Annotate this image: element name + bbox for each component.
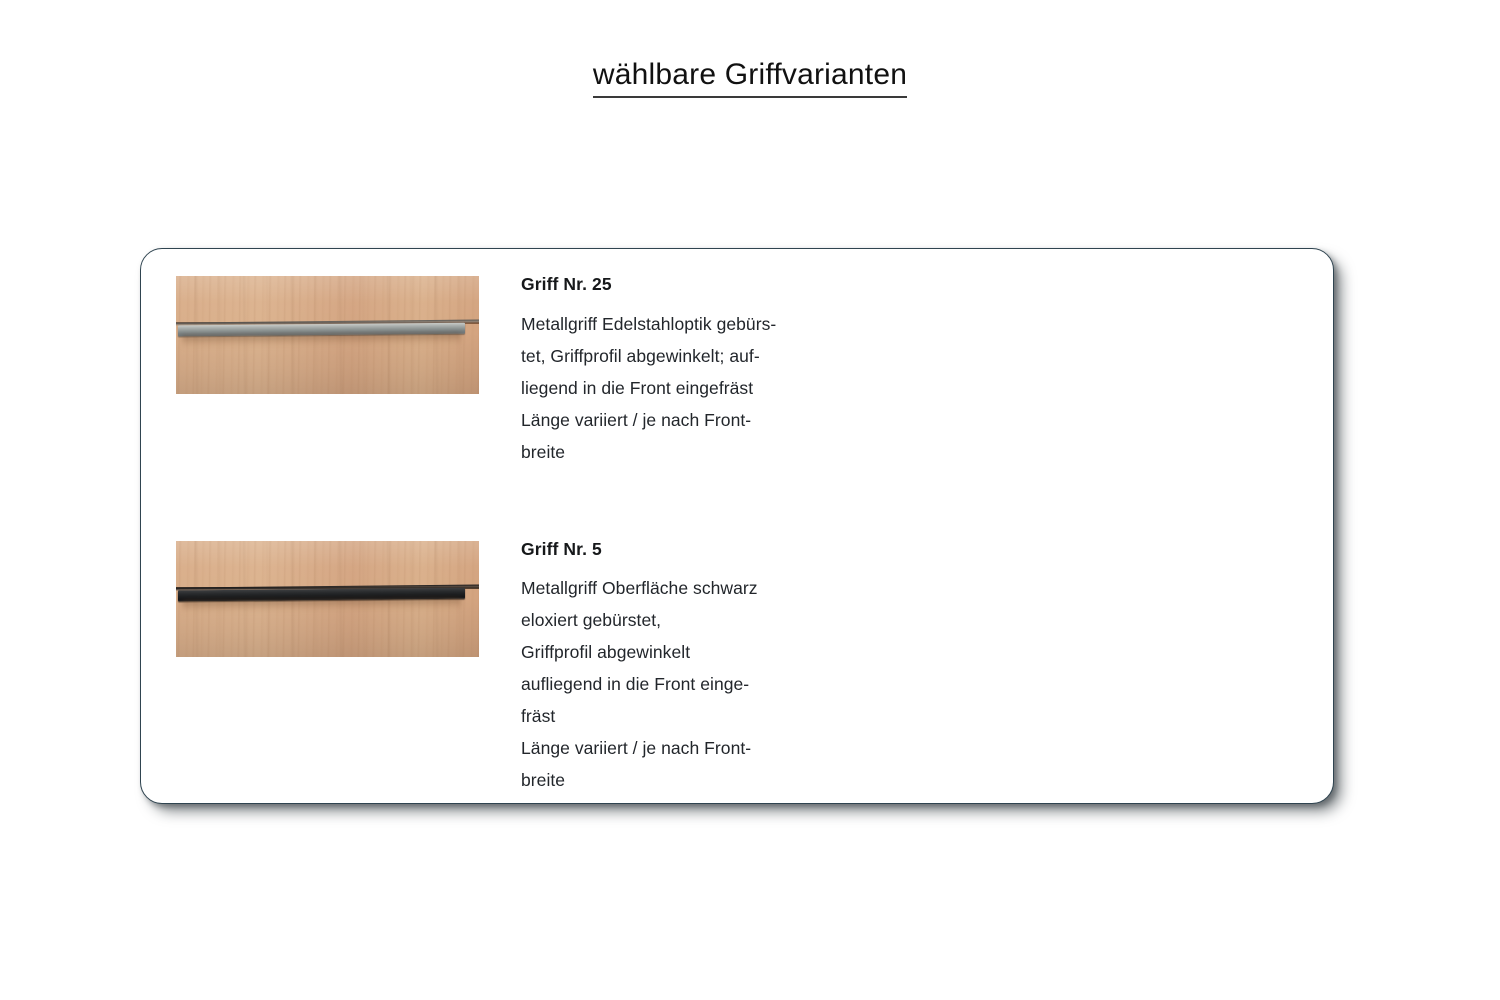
- handle-bar-steel-icon: [176, 323, 479, 342]
- description-line: eloxiert gebürstet,: [521, 604, 881, 636]
- description-line: Länge variiert / je nach Front-: [521, 732, 881, 764]
- description-line: aufliegend in die Front einge-: [521, 668, 881, 700]
- description-line: breite: [521, 764, 881, 796]
- variant-photo-griff-25: [176, 276, 479, 394]
- description-line: Metallgriff Oberfläche schwarz: [521, 572, 881, 604]
- description-line: liegend in die Front eingefräst: [521, 372, 881, 404]
- variant-title: Griff Nr. 25: [521, 276, 881, 294]
- handle-bar-black-icon: [176, 588, 479, 607]
- variant-text-griff-5: Griff Nr. 5 Metallgriff Oberfläche schwa…: [521, 541, 881, 796]
- description-line: Länge variiert / je nach Front-: [521, 404, 881, 436]
- variant-row: Griff Nr. 25 Metallgriff Edelstahloptik …: [176, 276, 881, 468]
- handle-shadow: [182, 598, 461, 614]
- variant-description: Metallgriff Oberfläche schwarz eloxiert …: [521, 572, 881, 796]
- description-line: Griffprofil abgewinkelt: [521, 636, 881, 668]
- handle-shadow: [182, 333, 461, 349]
- description-line: fräst: [521, 700, 881, 732]
- description-line: Metallgriff Edelstahloptik gebürs-: [521, 308, 881, 340]
- variant-photo-griff-5: [176, 541, 479, 657]
- page-title-text: wählbare Griffvarianten: [593, 58, 907, 98]
- page-title: wählbare Griffvarianten: [0, 58, 1500, 98]
- description-line: breite: [521, 436, 881, 468]
- handle-variants-card: Griff Nr. 25 Metallgriff Edelstahloptik …: [140, 248, 1334, 804]
- variant-title: Griff Nr. 5: [521, 541, 881, 559]
- variant-description: Metallgriff Edelstahloptik gebürs- tet, …: [521, 308, 881, 468]
- variant-row: Griff Nr. 5 Metallgriff Oberfläche schwa…: [176, 541, 881, 796]
- variant-text-griff-25: Griff Nr. 25 Metallgriff Edelstahloptik …: [521, 276, 881, 468]
- description-line: tet, Griffprofil abgewinkelt; auf-: [521, 340, 881, 372]
